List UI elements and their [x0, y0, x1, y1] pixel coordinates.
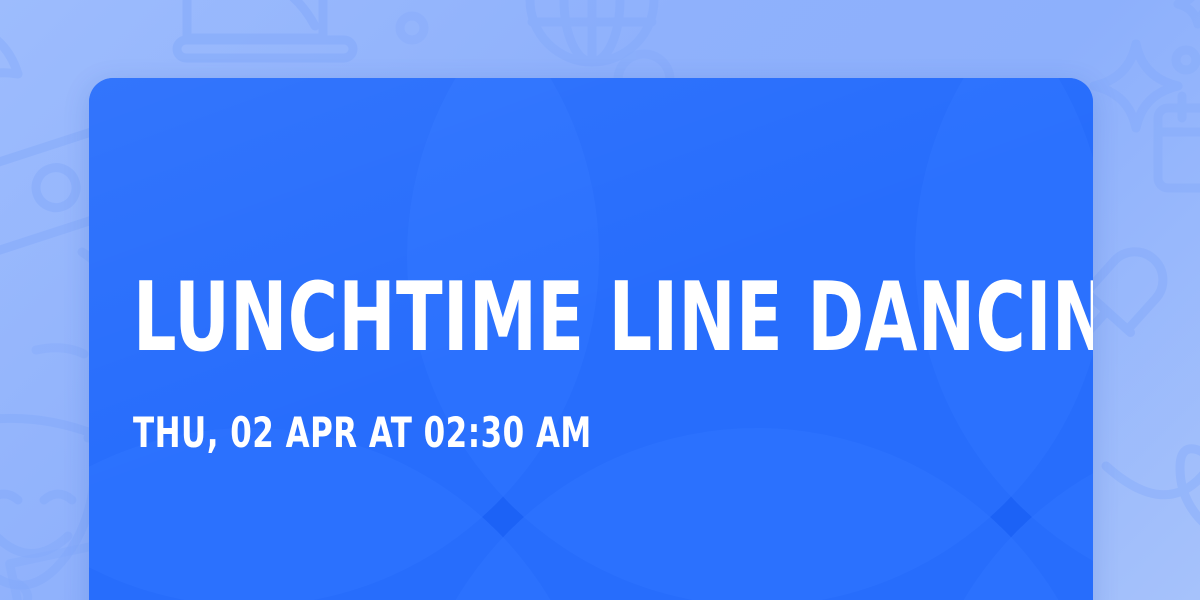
calendar-icon [1158, 96, 1200, 188]
laptop-icon [177, 0, 353, 58]
globe-icon [530, 0, 654, 62]
event-card[interactable]: LUNCHTIME LINE DANCING THU, 02 APR AT 02… [89, 78, 1093, 600]
sparkle-icon [1094, 44, 1178, 128]
card-content: LUNCHTIME LINE DANCING THU, 02 APR AT 02… [133, 78, 1033, 600]
confetti-icon [1176, 50, 1196, 70]
confetti-icon [1106, 449, 1200, 594]
event-title: LUNCHTIME LINE DANCING [133, 274, 1093, 363]
confetti-icon [400, 16, 424, 40]
confetti-icon [0, 26, 18, 92]
sparkle-icon [1178, 0, 1200, 24]
event-banner-page: LUNCHTIME LINE DANCING THU, 02 APR AT 02… [0, 0, 1200, 600]
event-datetime: THU, 02 APR AT 02:30 AM [133, 412, 592, 454]
